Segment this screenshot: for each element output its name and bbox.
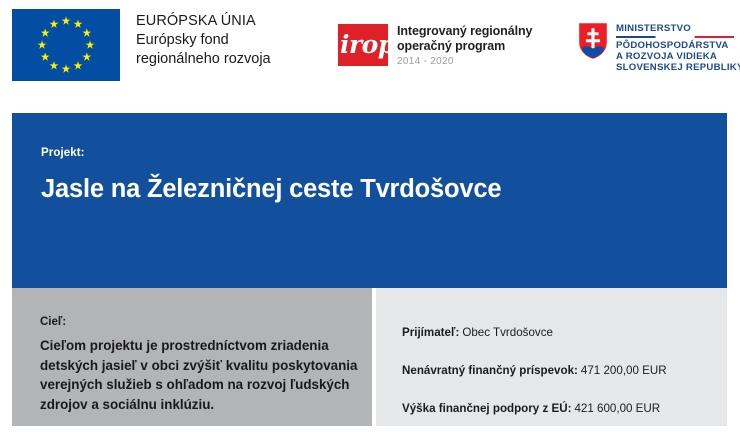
goal-label: Cieľ: [40,316,66,328]
eu-flag-icon [12,9,120,81]
irop-caption-line-2: operačný program [397,39,532,54]
detail-value-eu-support: 421 600,00 EUR [574,402,660,415]
project-details-panel: Prijímateľ:Obec Tvrdošovce Nenávratný fi… [376,288,727,426]
eu-caption-line-2: Európsky fond [136,31,271,50]
project-details-list: Prijímateľ:Obec Tvrdošovce Nenávratný fi… [402,326,722,416]
detail-row-eu-support: Výška finančnej podpory z EÚ:421 600,00 … [402,402,722,416]
detail-row-beneficiary: Prijímateľ:Obec Tvrdošovce [402,326,722,340]
eu-caption-line-3: regionálneho rozvoja [136,50,271,69]
eu-caption-line-1: EURÓPSKA ÚNIA [136,12,271,31]
irop-logo-wordmark: irop [340,31,388,58]
tricolor-divider [616,36,734,38]
ministry-caption-line-3: A ROZVOJA VIDIEKA [616,51,740,62]
ministry-logo-block: MINISTERSTVO PÔDOHOSPODÁRSTVA A ROZVOJA … [578,22,740,74]
ministry-caption-line-4: SLOVENSKEJ REPUBLIKY [616,62,740,73]
logo-strip: EURÓPSKA ÚNIA Európsky fond regionálneho… [0,0,740,100]
coat-of-arms-shield [578,22,608,60]
project-title: Jasle na Železničnej ceste Tvrdošovce [41,175,501,204]
irop-logo-block: irop Integrovaný regionálny operačný pro… [338,24,532,68]
irop-logo-icon: irop [338,24,388,66]
ministry-caption: MINISTERSTVO PÔDOHOSPODÁRSTVA A ROZVOJA … [616,22,740,74]
goal-description: Cieľom projektu je prostredníctvom zriad… [40,336,360,414]
detail-key-eu-support: Výška finančnej podpory z EÚ: [402,402,571,415]
eu-logo-block: EURÓPSKA ÚNIA Európsky fond regionálneho… [12,9,271,81]
irop-caption: Integrovaný regionálny operačný program … [397,24,532,68]
irop-caption-line-1: Integrovaný regionálny [397,24,532,39]
detail-value-grant: 471 200,00 EUR [581,364,667,377]
detail-value-beneficiary: Obec Tvrdošovce [462,326,553,339]
project-banner: Projekt: Jasle na Železničnej ceste Tvrd… [12,113,727,288]
detail-row-grant: Nenávratný finančný príspevok:471 200,00… [402,364,722,378]
eu-caption: EURÓPSKA ÚNIA Európsky fond regionálneho… [136,9,271,69]
ministry-caption-line-1: MINISTERSTVO [616,23,740,34]
detail-key-grant: Nenávratný finančný príspevok: [402,364,578,377]
goal-panel: Cieľ: Cieľom projektu je prostredníctvom… [12,288,372,426]
slovak-coat-of-arms-icon [578,22,608,60]
eu-stars-icon [12,9,120,81]
irop-programme-period: 2014 - 2020 [397,54,532,68]
detail-key-beneficiary: Prijímateľ: [402,326,459,339]
project-label: Projekt: [41,147,85,159]
ministry-caption-line-2: PÔDOHOSPODÁRSTVA [616,40,740,51]
